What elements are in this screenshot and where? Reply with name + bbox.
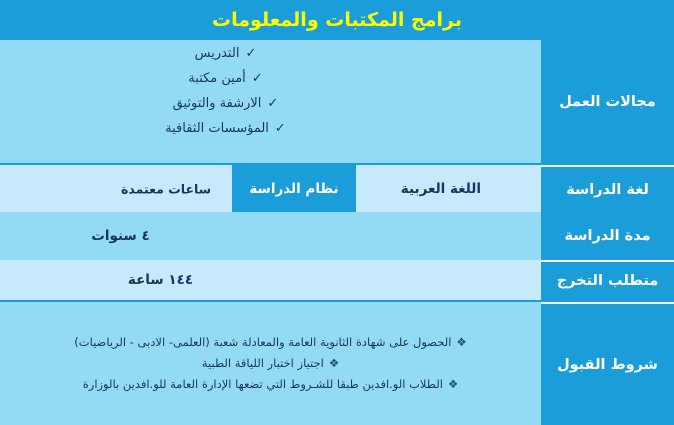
diamond-bullet-icon: ❖	[324, 356, 339, 370]
page-title: برامج المكتبات والمعلومات	[212, 11, 462, 30]
diamond-bullet-icon: ❖	[443, 377, 458, 391]
table-row-admission-conditions: ❖الحصول على شهادة الثانوية العامة والمعا…	[0, 302, 674, 425]
list-item: ❖اجتياز اختبار اللياقة الطبية	[8, 353, 533, 374]
list-item-label: أمين مكتبة	[188, 71, 245, 86]
check-icon: ✓	[261, 96, 278, 111]
check-icon: ✓	[269, 121, 286, 136]
study-language-value-cell: اللغة العربية نظام الدراسة ساعات معتمدة	[0, 165, 541, 212]
study-duration-value-cell: ٤ سنوات	[0, 212, 541, 260]
study-duration-value: ٤ سنوات	[0, 228, 541, 244]
work-fields-value-cell: ✓التدريس ✓أمين مكتبة ✓الارشفة والتوثيق ✓…	[0, 40, 541, 163]
graduation-requirement-value-cell: ١٤٤ ساعة	[0, 260, 541, 300]
study-language-value: اللغة العربية	[401, 181, 481, 197]
credit-hours-value: ساعات معتمدة	[121, 181, 211, 196]
row-label-work-fields: مجالات العمل	[541, 40, 674, 163]
program-info-table-page: برامج المكتبات والمعلومات ✓التدريس ✓أمين…	[0, 0, 674, 425]
list-item: ✓الارشفة والتوثيق	[0, 91, 541, 116]
list-item-label: التدريس	[195, 46, 240, 61]
row-label-admission-conditions: شروط القبول	[541, 302, 674, 425]
table-row-study-language: اللغة العربية نظام الدراسة ساعات معتمدة …	[0, 165, 674, 212]
row-label-study-duration: مدة الدراسة	[541, 212, 674, 260]
row-label-study-language: لغة الدراسة	[541, 165, 674, 212]
check-icon: ✓	[239, 46, 256, 61]
list-item: ❖الطلاب الو.افدين طبقا للشـروط التي تضعه…	[8, 374, 533, 395]
diamond-bullet-icon: ❖	[451, 335, 466, 349]
table-row-graduation-requirement: ١٤٤ ساعة متطلب التخرج	[0, 260, 674, 300]
program-info-table: ✓التدريس ✓أمين مكتبة ✓الارشفة والتوثيق ✓…	[0, 40, 674, 425]
list-item: ❖الحصول على شهادة الثانوية العامة والمعا…	[8, 332, 533, 353]
list-item: ✓المؤسسات الثقافية	[0, 116, 541, 141]
list-item: ✓أمين مكتبة	[0, 66, 541, 91]
page-title-bar: برامج المكتبات والمعلومات	[0, 0, 674, 40]
table-row-study-duration: ٤ سنوات مدة الدراسة	[0, 212, 674, 260]
study-system-badge: نظام الدراسة	[232, 165, 356, 212]
table-row-work-fields: ✓التدريس ✓أمين مكتبة ✓الارشفة والتوثيق ✓…	[0, 40, 674, 163]
admission-conditions-list: ❖الحصول على شهادة الثانوية العامة والمعا…	[0, 332, 541, 395]
list-item-label: الطلاب الو.افدين طبقا للشـروط التي تضعها…	[83, 377, 443, 391]
list-item: ✓التدريس	[0, 41, 541, 66]
work-fields-list: ✓التدريس ✓أمين مكتبة ✓الارشفة والتوثيق ✓…	[0, 41, 541, 163]
list-item-label: الحصول على شهادة الثانوية العامة والمعاد…	[74, 335, 451, 349]
row-label-graduation-requirement: متطلب التخرج	[541, 260, 674, 300]
graduation-requirement-value: ١٤٤ ساعة	[0, 272, 541, 288]
check-icon: ✓	[246, 71, 263, 86]
admission-conditions-value-cell: ❖الحصول على شهادة الثانوية العامة والمعا…	[0, 302, 541, 425]
list-item-label: اجتياز اختبار اللياقة الطبية	[202, 356, 324, 370]
list-item-label: الارشفة والتوثيق	[173, 96, 262, 111]
list-item-label: المؤسسات الثقافية	[165, 121, 269, 136]
